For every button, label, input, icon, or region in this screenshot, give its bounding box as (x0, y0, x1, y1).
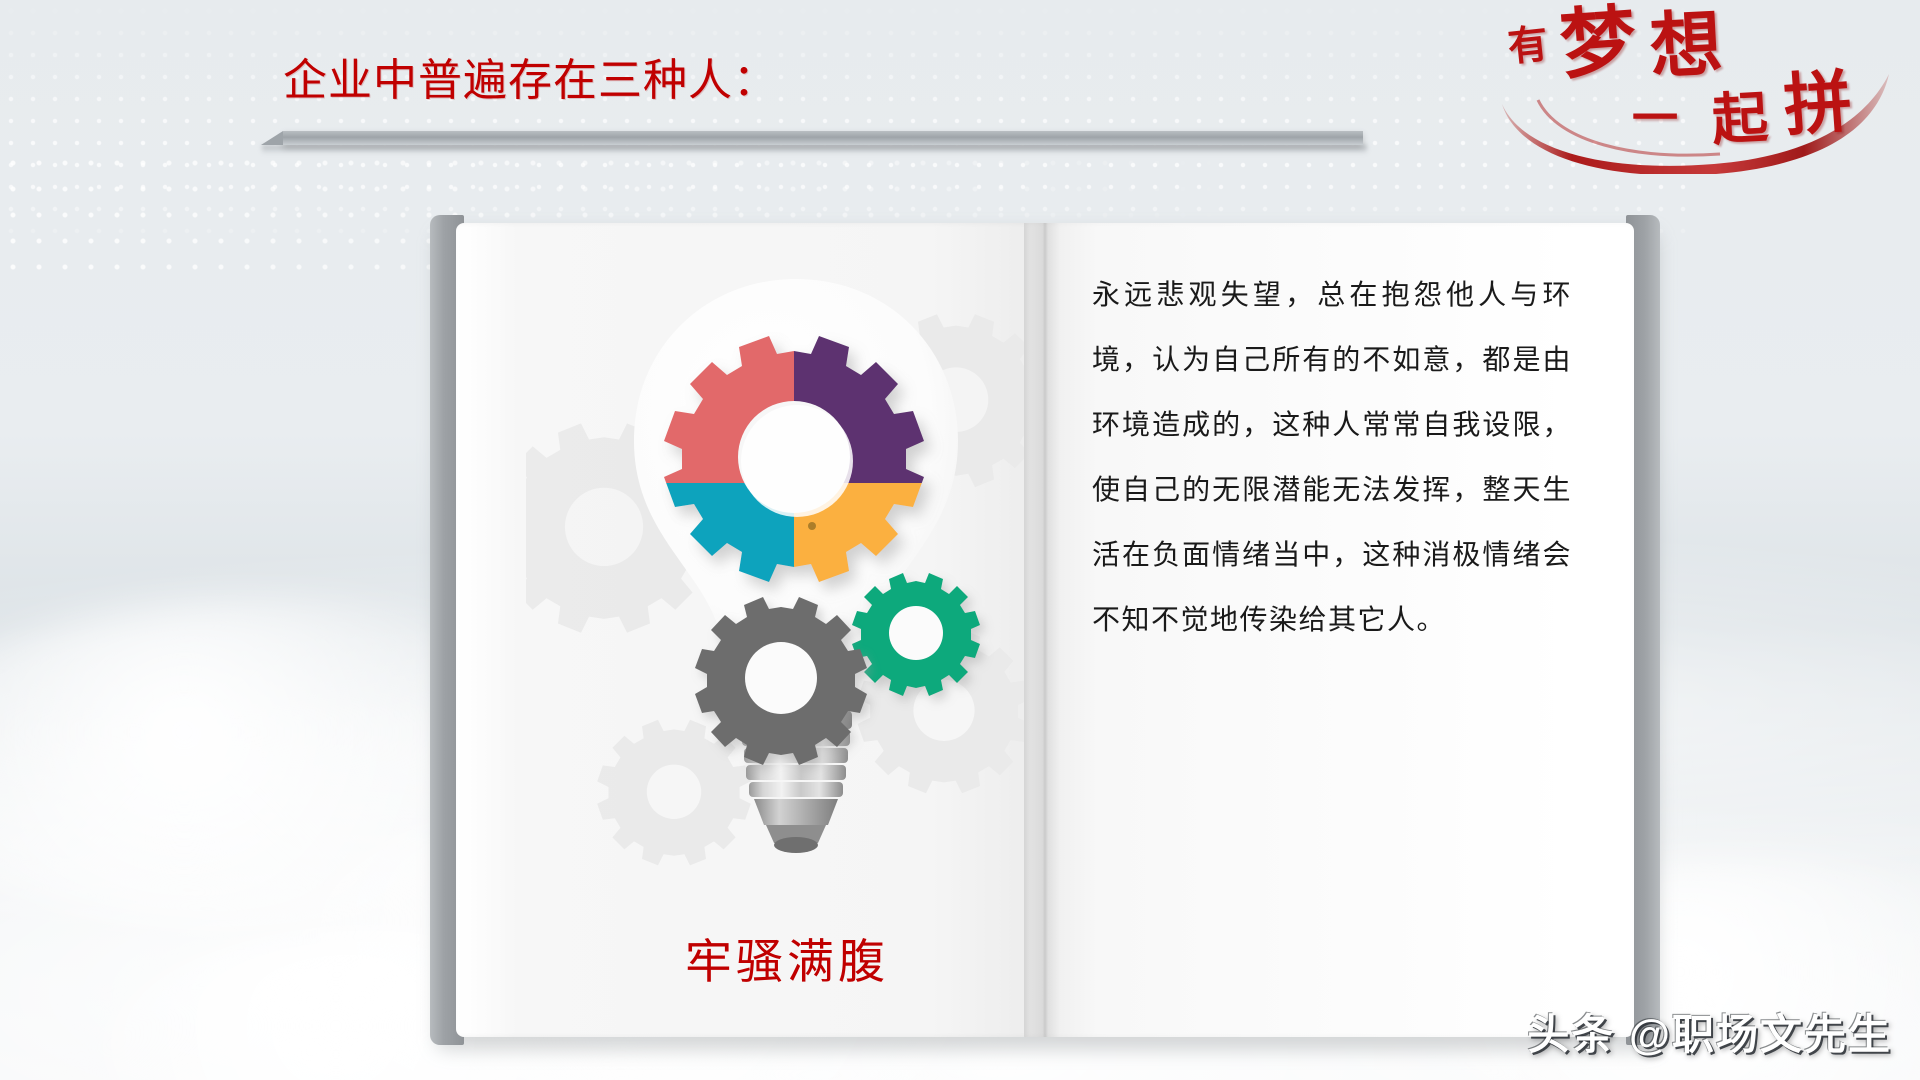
logo-char-yi: 一 (1632, 96, 1678, 142)
logo-char-qi: 起 (1711, 91, 1770, 150)
logo-char-pin: 拼 (1782, 68, 1855, 141)
halftone-dot-pattern (0, 0, 1700, 250)
logo-char-meng: 梦 (1557, 3, 1638, 84)
illustration-label: 牢骚满腹 (482, 923, 1092, 992)
book-page-right: 永远悲观失望，总在抱怨他人与环境，认为自己所有的不如意，都是由环境造成的，这种人… (1024, 223, 1634, 1037)
lightbulb-gears-icon (526, 243, 1066, 943)
dream-slogan-logo: 有 梦 想 一 起 拼 (1484, 4, 1904, 174)
logo-char-xiang: 想 (1648, 8, 1724, 84)
book-gutter (1030, 223, 1060, 1037)
title-bar-shadow (262, 145, 1367, 154)
body-paragraph: 永远悲观失望，总在抱怨他人与环境，认为自己所有的不如意，都是由环境造成的，这种人… (1092, 263, 1572, 653)
slide-canvas: 企业中普遍存在三种人： 有 梦 想 一 起 拼 (0, 0, 1920, 1080)
watermark-credit: 头条 @职场文先生 (1527, 1001, 1892, 1062)
logo-char-you: 有 (1506, 24, 1550, 68)
page-title: 企业中普遍存在三种人： (283, 56, 778, 107)
book-page-left: 牢骚满腹 (456, 223, 1066, 1037)
open-book: 牢骚满腹 永远悲观失望，总在抱怨他人与环境，认为自己所有的不如意，都是由环境造成… (430, 215, 1660, 1045)
title-underline-bar (283, 131, 1363, 145)
